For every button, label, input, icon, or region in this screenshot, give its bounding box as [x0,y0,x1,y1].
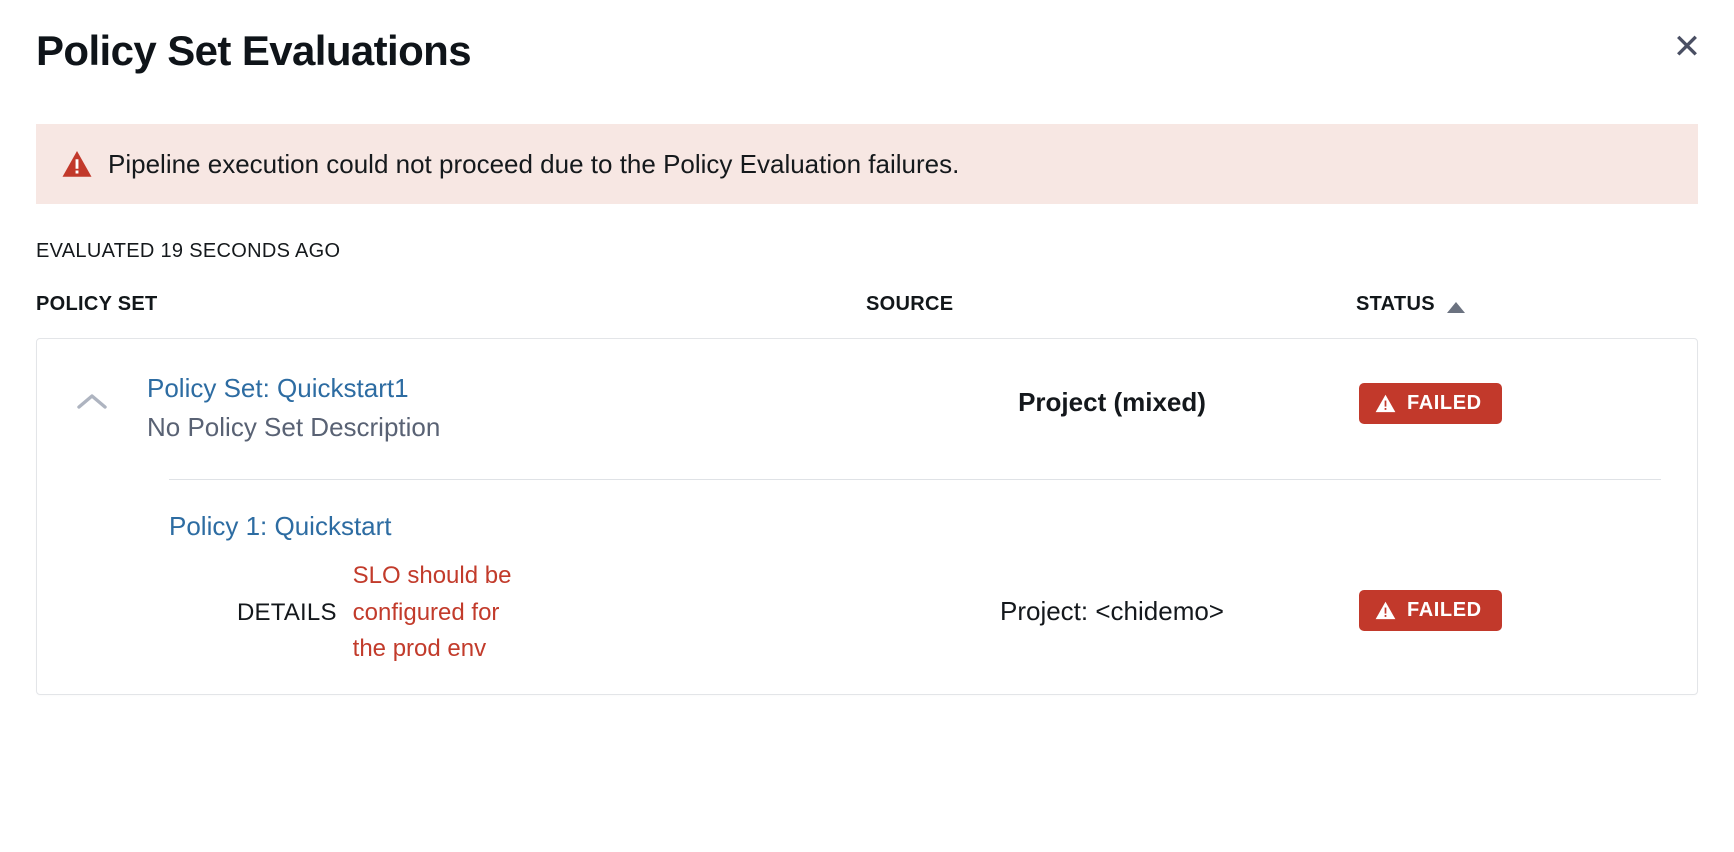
details-message: SLO should be configured for the prod en… [353,558,528,667]
sort-ascending-icon[interactable] [1447,302,1465,313]
status-badge-label: FAILED [1407,599,1482,622]
column-header-status-label: STATUS [1356,293,1435,316]
status-badge[interactable]: FAILED [1359,590,1502,631]
policy-set-title-link[interactable]: Policy Set: Quickstart1 [147,371,867,406]
policy-details-cell: DETAILS SLO should be configured for the… [37,558,867,668]
page-title: Policy Set Evaluations [36,26,1698,76]
evaluated-timestamp: EVALUATED 19 SECONDS AGO [36,240,1698,263]
warning-triangle-icon [1375,601,1396,620]
policy-status-cell: FAILED [1357,558,1697,631]
policy-set-source: Project (mixed) [867,371,1357,418]
error-alert-banner: Pipeline execution could not proceed due… [36,124,1698,204]
table-header-row: POLICY SET SOURCE STATUS [36,293,1698,316]
alert-message: Pipeline execution could not proceed due… [108,148,959,181]
policy-body: DETAILS SLO should be configured for the… [37,558,1697,668]
status-badge-label: FAILED [1407,392,1482,415]
column-header-policy-set[interactable]: POLICY SET [36,293,866,316]
policy-set-info: Policy Set: Quickstart1 No Policy Set De… [147,371,867,445]
policy-row: Policy 1: Quickstart DETAILS SLO should … [37,480,1697,668]
policy-set-status-cell: FAILED [1357,371,1697,424]
warning-triangle-icon [1375,394,1396,413]
policy-set-evaluations-modal: Policy Set Evaluations ✕ Pipeline execut… [0,0,1734,852]
policy-set-row: Policy Set: Quickstart1 No Policy Set De… [37,339,1697,445]
expand-collapse-toggle[interactable] [37,371,147,409]
status-badge[interactable]: FAILED [1359,383,1502,424]
policy-source: Project: <chidemo> [867,558,1357,627]
policy-set-result-card: Policy Set: Quickstart1 No Policy Set De… [36,338,1698,695]
column-header-status[interactable]: STATUS [1356,293,1698,316]
details-label: DETAILS [237,599,353,627]
close-icon[interactable]: ✕ [1666,26,1708,68]
policy-set-description: No Policy Set Description [147,410,867,445]
modal-header: Policy Set Evaluations ✕ [0,0,1734,104]
chevron-up-icon [77,393,107,409]
warning-triangle-icon [62,150,92,178]
policy-title-link[interactable]: Policy 1: Quickstart [169,510,1697,544]
column-header-source[interactable]: SOURCE [866,293,1356,316]
